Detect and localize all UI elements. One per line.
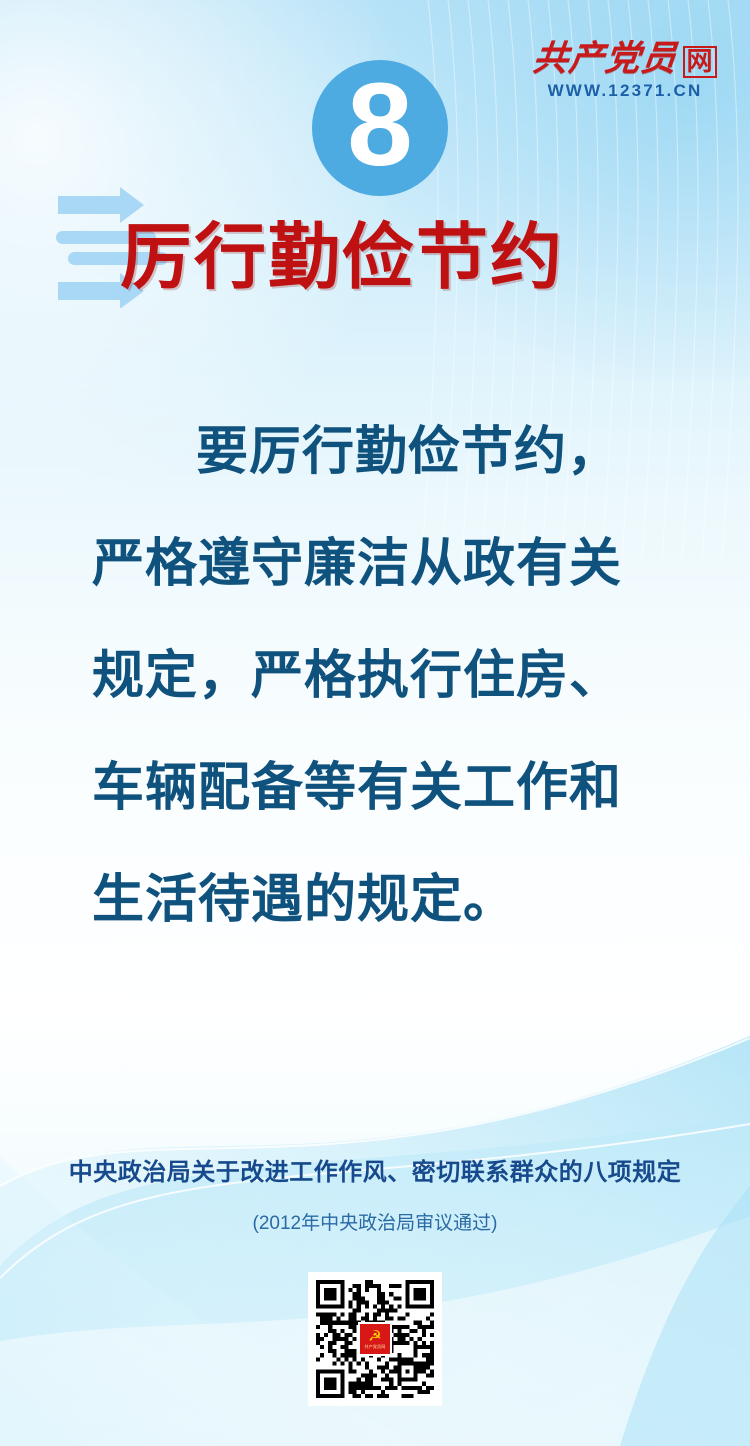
logo-brand-text: 共产党员 (531, 40, 679, 78)
qr-code[interactable]: ☭ 共产党员网 (308, 1272, 442, 1406)
body-line-5: 生活待遇的规定。 (92, 844, 672, 956)
body-line-1: 要厉行勤俭节约， (92, 396, 672, 508)
body-line-2: 严格遵守廉洁从政有关 (92, 508, 672, 620)
poster-canvas: 共产党员 网 WWW.12371.CN 8 厉行勤俭节约 要厉行勤俭节约， 严格… (0, 0, 750, 1446)
footer-regulation-title: 中央政治局关于改进工作作风、密切联系群众的八项规定 (0, 1152, 750, 1187)
body-line-4: 车辆配备等有关工作和 (92, 732, 672, 844)
logo-boxed-char: 网 (683, 46, 717, 78)
site-logo[interactable]: 共产党员 网 WWW.12371.CN (518, 36, 732, 101)
page-title: 厉行勤俭节约 (120, 198, 564, 303)
logo-url-text: WWW.12371.CN (518, 81, 732, 101)
body-paragraph: 要厉行勤俭节约， 严格遵守廉洁从政有关 规定，严格执行住房、 车辆配备等有关工作… (92, 396, 672, 956)
footer-regulation-subtitle: (2012年中央政治局审议通过) (0, 1208, 750, 1235)
qr-center-caption: 共产党员网 (365, 1344, 386, 1349)
qr-center-party-emblem: ☭ 共产党员网 (358, 1322, 392, 1356)
number-badge: 8 (312, 60, 448, 196)
body-line-3: 规定，严格执行住房、 (92, 620, 672, 732)
logo-wordmark: 共产党员 网 (518, 36, 732, 78)
hammer-sickle-icon: ☭ (368, 1330, 381, 1344)
number-badge-value: 8 (347, 66, 413, 184)
